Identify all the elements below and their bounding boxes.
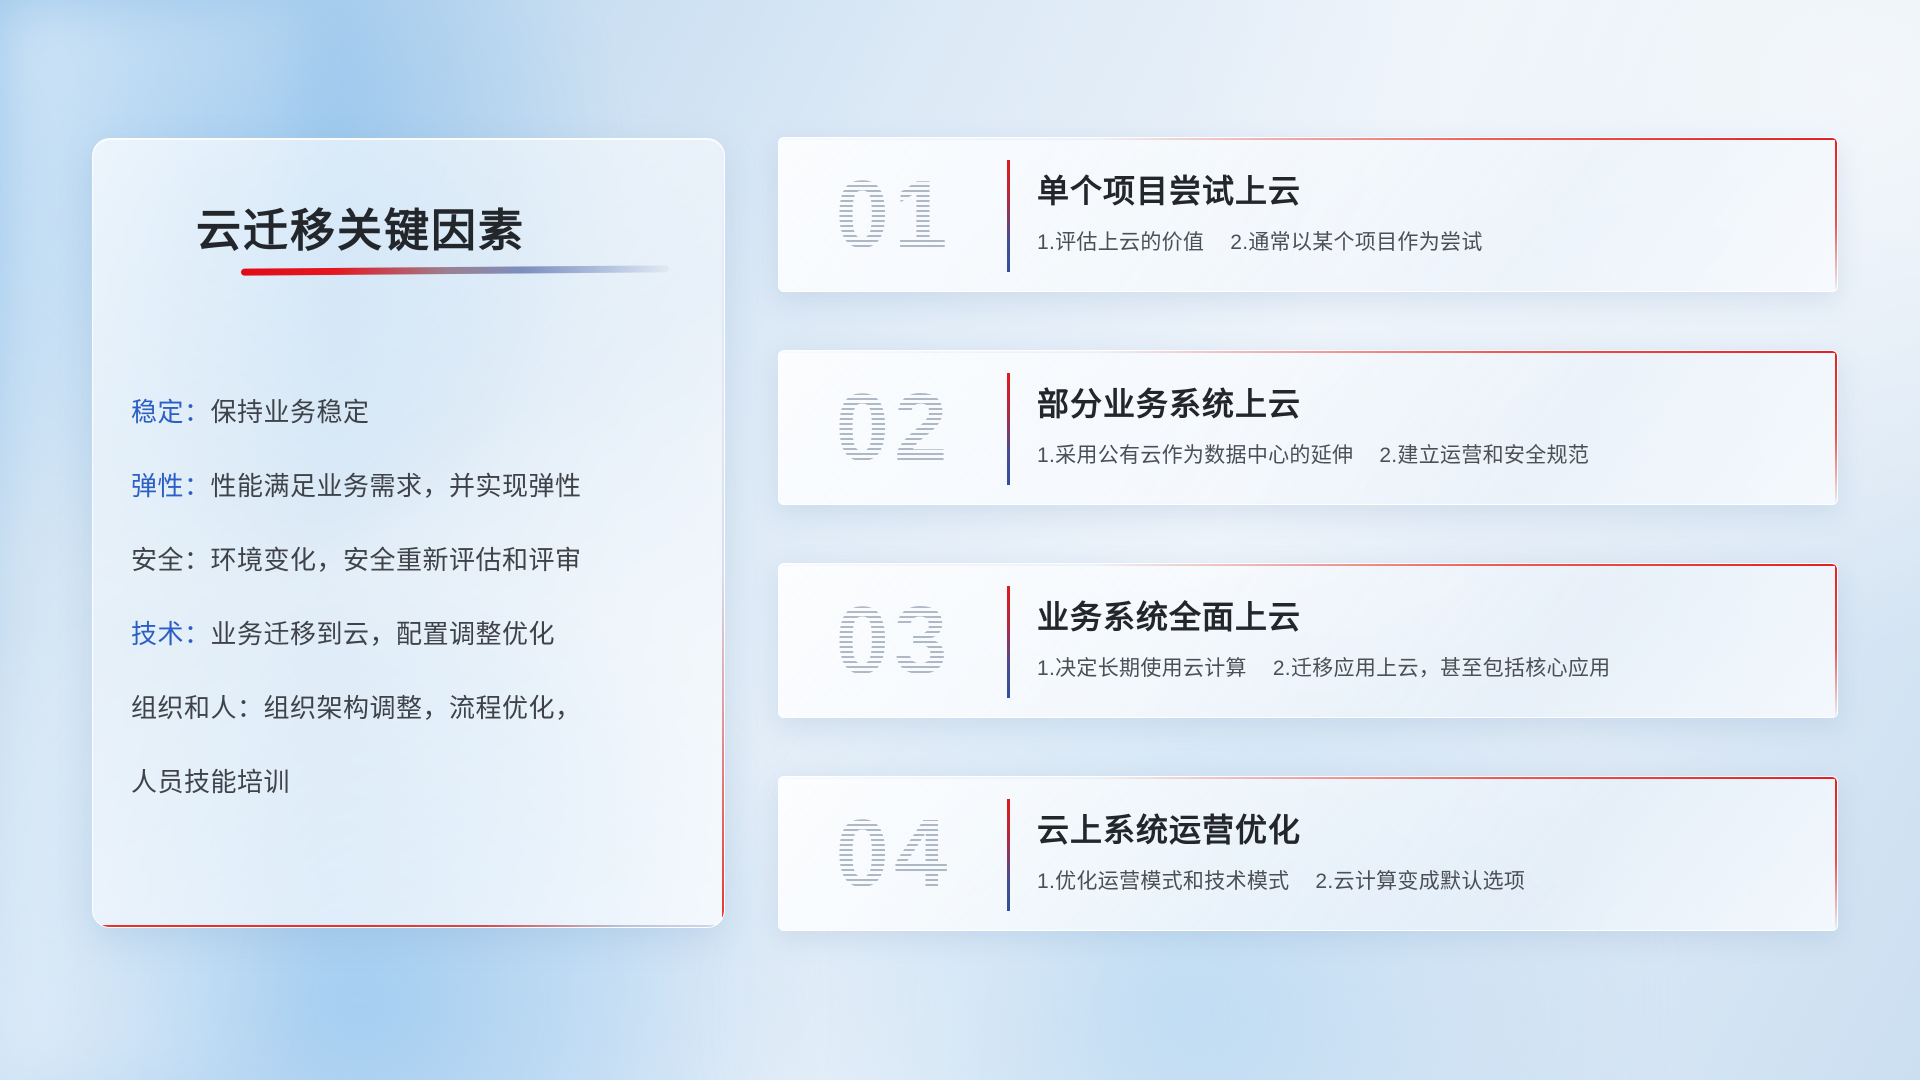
key-factor-value: 环境变化，安全重新评估和评审	[211, 545, 582, 575]
stage-card[interactable]: 02部分业务系统上云1.采用公有云作为数据中心的延伸2.建立运营和安全规范	[778, 350, 1838, 505]
stage-title: 云上系统运营优化	[1037, 805, 1301, 851]
stage-divider-accent	[1007, 799, 1010, 911]
stage-points: 1.优化运营模式和技术模式2.云计算变成默认选项	[1037, 865, 1525, 895]
stage-point-2: 2.通常以某个项目作为尝试	[1230, 231, 1482, 254]
stage-divider-accent	[1007, 586, 1010, 698]
stage-points: 1.采用公有云作为数据中心的延伸2.建立运营和安全规范	[1037, 439, 1589, 469]
key-factors-panel: 云迁移关键因素 稳定：保持业务稳定弹性：性能满足业务需求，并实现弹性安全：环境变…	[92, 138, 725, 928]
key-factor-value: 性能满足业务需求，并实现弹性	[211, 471, 582, 501]
key-factor-value: 组织架构调整，流程优化，	[264, 693, 582, 723]
stage-title: 业务系统全面上云	[1037, 592, 1301, 638]
key-factor-item: 技术：业务迁移到云，配置调整优化	[131, 597, 694, 671]
key-factor-item: 安全：环境变化，安全重新评估和评审	[131, 523, 694, 597]
stage-number: 02	[814, 365, 974, 491]
stage-divider-accent	[1007, 160, 1010, 272]
stage-divider-accent	[1007, 373, 1010, 485]
stage-points: 1.评估上云的价值2.通常以某个项目作为尝试	[1037, 226, 1483, 256]
title-underline-accent	[241, 265, 669, 275]
stage-card[interactable]: 04云上系统运营优化1.优化运营模式和技术模式2.云计算变成默认选项	[778, 776, 1838, 931]
stage-number-text: 01	[836, 160, 953, 270]
stage-title: 单个项目尝试上云	[1037, 166, 1301, 212]
stage-number-text: 04	[836, 799, 953, 909]
key-factor-item: 组织和人：组织架构调整，流程优化，	[131, 671, 694, 745]
stage-number-text: 03	[836, 586, 953, 696]
stage-title: 部分业务系统上云	[1037, 379, 1301, 425]
stage-number: 03	[814, 578, 974, 704]
key-factors-list: 稳定：保持业务稳定弹性：性能满足业务需求，并实现弹性安全：环境变化，安全重新评估…	[131, 375, 694, 819]
key-factor-value: 业务迁移到云，配置调整优化	[211, 619, 556, 649]
stage-point-2: 2.迁移应用上云，甚至包括核心应用	[1273, 657, 1611, 680]
page-title: 云迁移关键因素	[196, 194, 525, 259]
stage-point-1: 1.采用公有云作为数据中心的延伸	[1037, 444, 1353, 467]
key-factor-label: 弹性：	[131, 471, 211, 501]
key-factor-label: 安全：	[131, 545, 211, 575]
stage-point-2: 2.建立运营和安全规范	[1379, 444, 1589, 467]
stage-number: 04	[814, 791, 974, 917]
key-factor-label: 技术：	[131, 619, 211, 649]
key-factor-label: 组织和人：	[131, 693, 264, 723]
stage-points: 1.决定长期使用云计算2.迁移应用上云，甚至包括核心应用	[1037, 652, 1610, 682]
stage-card[interactable]: 03业务系统全面上云1.决定长期使用云计算2.迁移应用上云，甚至包括核心应用	[778, 563, 1838, 718]
key-factor-label: 稳定：	[131, 397, 211, 427]
stage-card[interactable]: 01单个项目尝试上云1.评估上云的价值2.通常以某个项目作为尝试	[778, 137, 1838, 292]
key-factor-item: 稳定：保持业务稳定	[131, 375, 694, 449]
stage-point-1: 1.评估上云的价值	[1037, 231, 1204, 254]
stage-point-2: 2.云计算变成默认选项	[1315, 870, 1525, 893]
stage-number: 01	[814, 152, 974, 278]
key-factor-value-continued: 人员技能培训	[131, 745, 694, 819]
key-factor-item: 弹性：性能满足业务需求，并实现弹性	[131, 449, 694, 523]
stage-number-text: 02	[836, 373, 953, 483]
stage-point-1: 1.优化运营模式和技术模式	[1037, 870, 1289, 893]
stage-card-list: 01单个项目尝试上云1.评估上云的价值2.通常以某个项目作为尝试02部分业务系统…	[778, 137, 1838, 989]
key-factor-value: 保持业务稳定	[211, 397, 370, 427]
stage-point-1: 1.决定长期使用云计算	[1037, 657, 1247, 680]
